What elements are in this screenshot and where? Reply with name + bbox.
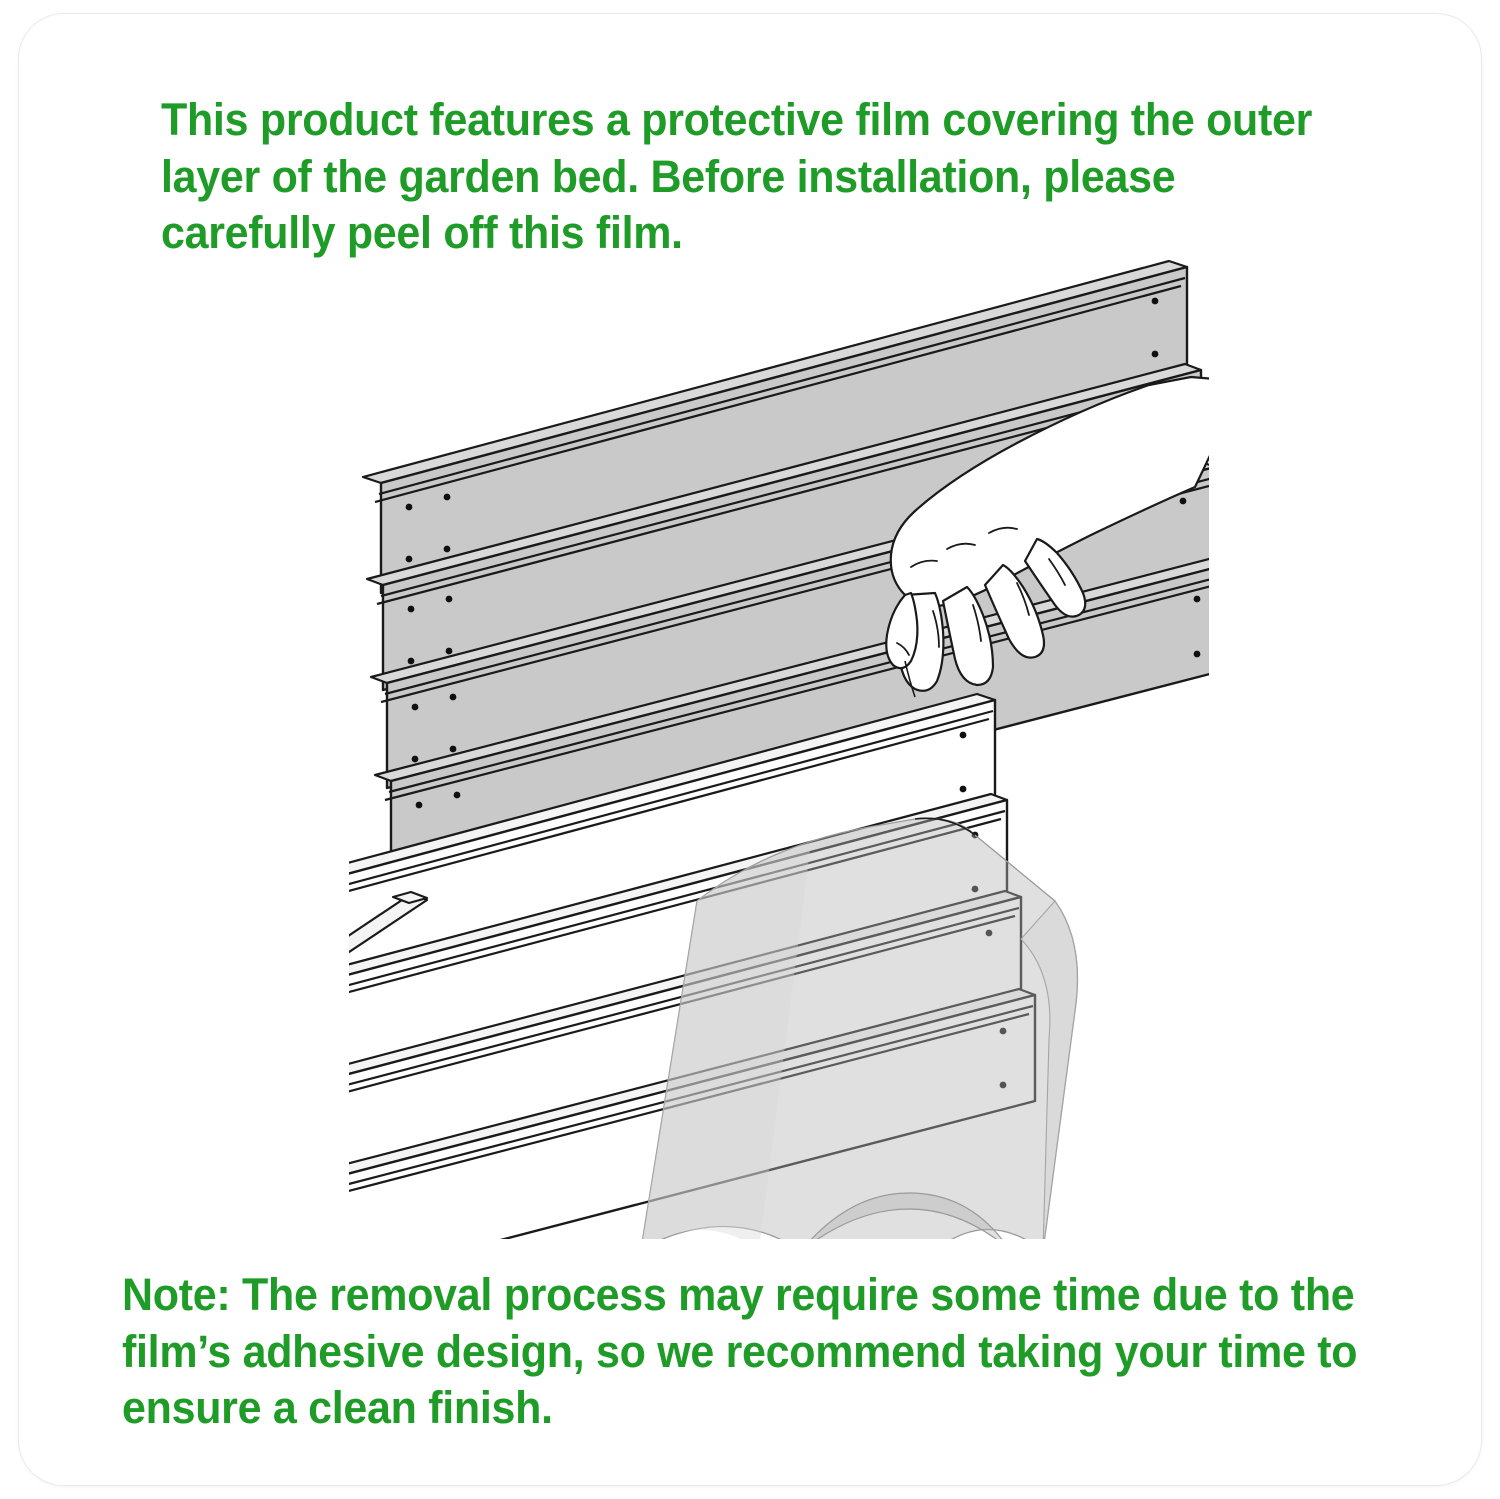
garden-bed-film-peel-illustration: .pf { fill:#c9c9c9; stroke:#1a1a1a; stro… xyxy=(349,249,1209,1239)
lower-left-panel-face xyxy=(349,894,427,1239)
page-root: This product features a protective film … xyxy=(0,0,1500,1499)
headline-text: This product features a protective film … xyxy=(161,92,1336,262)
instruction-card: This product features a protective film … xyxy=(18,13,1482,1486)
note-text: Note: The removal process may require so… xyxy=(122,1267,1373,1437)
